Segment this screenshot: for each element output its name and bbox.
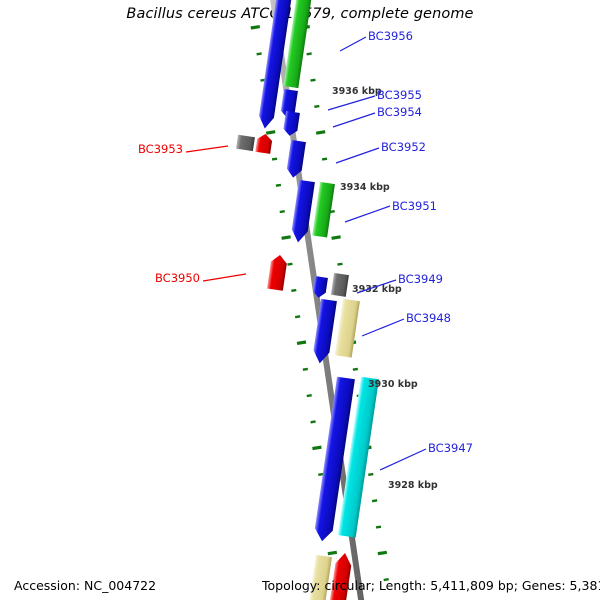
scale-label: 3936 kbp xyxy=(332,86,382,97)
gene-label-bc3955[interactable]: BC3955 xyxy=(377,88,422,102)
scale-label: 3932 kbp xyxy=(352,284,402,295)
genome-map-canvas[interactable]: 3936 kbp3934 kbp3932 kbp3930 kbp3928 kbp… xyxy=(0,0,600,600)
gene-label-leader-line xyxy=(336,148,379,163)
gene-label-leader-line xyxy=(328,96,375,110)
scale-tick-icon xyxy=(316,132,325,133)
scale-tick-icon xyxy=(310,80,315,81)
scale-tick-icon xyxy=(307,395,312,396)
scale-tick-icon xyxy=(368,474,373,475)
scale-tick-icon xyxy=(266,132,275,133)
scale-tick-icon xyxy=(322,159,327,160)
scale-tick-icon xyxy=(311,421,316,422)
gene-arrow-up-icon[interactable] xyxy=(267,254,288,291)
gene-label-leader-line xyxy=(380,449,426,470)
feature-box-icon[interactable] xyxy=(331,273,349,297)
scale-tick-icon xyxy=(291,290,296,291)
genome-map-viewer[interactable]: Bacillus cereus ATCC 14579, complete gen… xyxy=(0,0,600,600)
gene-label-leader-line xyxy=(340,37,366,51)
scale-tick-icon xyxy=(378,552,387,553)
scale-tick-icon xyxy=(272,159,277,160)
scale-tick-icon xyxy=(295,316,300,317)
gene-label-bc3951[interactable]: BC3951 xyxy=(392,199,437,213)
gene-label-leader-line xyxy=(203,274,246,281)
scale-tick-icon xyxy=(257,53,262,54)
accession-text: Accession: NC_004722 xyxy=(14,578,156,593)
scale-label: 3930 kbp xyxy=(368,379,418,390)
scale-tick-icon xyxy=(372,500,377,501)
scale-label: 3934 kbp xyxy=(340,182,390,193)
scale-tick-icon xyxy=(314,106,319,107)
gene-label-leader-line xyxy=(345,206,390,222)
gene-label-bc3952[interactable]: BC3952 xyxy=(381,140,426,154)
scale-tick-icon xyxy=(282,237,291,238)
scale-tick-icon xyxy=(307,53,312,54)
gene-label-leader-line xyxy=(362,319,404,336)
scale-tick-icon xyxy=(303,369,308,370)
scale-tick-icon xyxy=(312,447,321,448)
gene-label-bc3948[interactable]: BC3948 xyxy=(406,311,451,325)
gene-label-bc3949[interactable]: BC3949 xyxy=(398,272,443,286)
genome-summary-text: Topology: circular; Length: 5,411,809 bp… xyxy=(262,578,600,593)
gene-label-leader-line xyxy=(186,146,228,152)
scale-tick-icon xyxy=(353,369,358,370)
scale-tick-icon xyxy=(251,27,260,28)
scale-tick-icon xyxy=(287,264,292,265)
feature-box-icon[interactable] xyxy=(236,135,255,151)
gene-label-bc3950[interactable]: BC3950 xyxy=(155,271,200,285)
gene-arrow-up-icon[interactable] xyxy=(255,133,273,154)
gene-label-bc3947[interactable]: BC3947 xyxy=(428,441,473,455)
scale-tick-icon xyxy=(297,342,306,343)
gene-labels-group[interactable]: BC3956BC3955BC3954BC3953BC3952BC3951BC39… xyxy=(138,29,473,470)
feature-box-icon[interactable] xyxy=(335,299,360,358)
feature-box-icon[interactable] xyxy=(312,182,335,238)
gene-arrow-down-icon[interactable] xyxy=(286,140,306,179)
gene-label-bc3953[interactable]: BC3953 xyxy=(138,142,183,156)
scale-tick-icon xyxy=(280,211,285,212)
scale-tick-icon xyxy=(318,474,323,475)
status-bar: Accession: NC_004722 Topology: circular;… xyxy=(0,572,600,600)
scale-tick-icon xyxy=(332,237,341,238)
gene-arrow-down-icon[interactable] xyxy=(290,180,315,244)
scale-tick-icon xyxy=(337,264,342,265)
gene-label-bc3954[interactable]: BC3954 xyxy=(377,105,422,119)
scale-tick-icon xyxy=(328,552,337,553)
scale-tick-icon xyxy=(276,185,281,186)
scale-tick-icon xyxy=(376,527,381,528)
gene-label-bc3956[interactable]: BC3956 xyxy=(368,29,413,43)
gene-label-leader-line xyxy=(333,113,375,127)
scale-label: 3928 kbp xyxy=(388,480,438,491)
